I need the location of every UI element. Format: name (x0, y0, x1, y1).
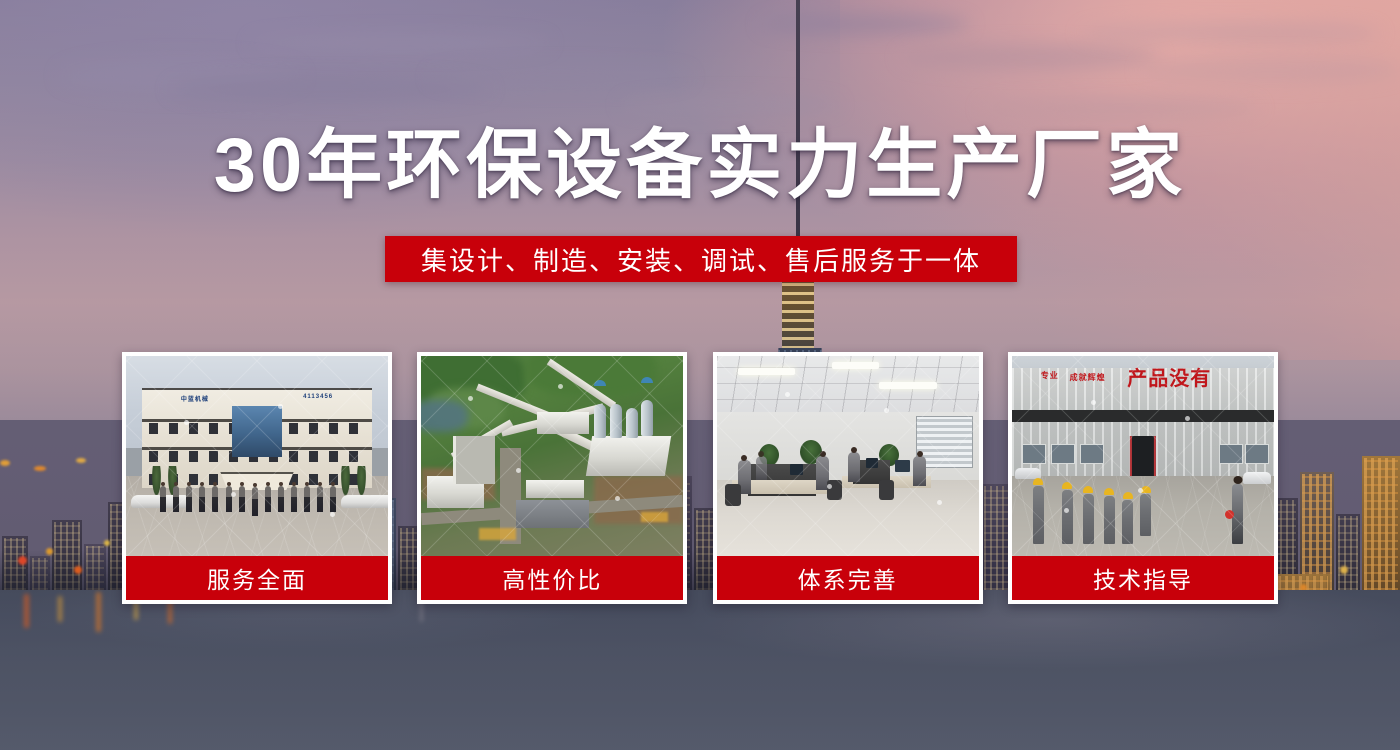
feature-card-caption: 高性价比 (421, 556, 683, 600)
feature-card-service[interactable]: 中蓝机械 4113456 (122, 352, 392, 604)
feature-card-caption: 技术指导 (1012, 556, 1274, 600)
aerial-industrial-plant-photo (421, 356, 683, 556)
workshop-yard-workers-photo: 产品没有 专业 成就辉煌 (1012, 356, 1274, 556)
feature-card-caption: 服务全面 (126, 556, 388, 600)
feature-card-guidance[interactable]: 产品没有 专业 成就辉煌 (1008, 352, 1278, 604)
feature-card-caption: 体系完善 (717, 556, 979, 600)
page-title: 30年环保设备实力生产厂家 (0, 128, 1400, 204)
subtitle-banner: 集设计、制造、安装、调试、售后服务于一体 (385, 236, 1017, 282)
company-office-building-staff-photo: 中蓝机械 4113456 (126, 356, 388, 556)
building-sign-phone: 4113456 (303, 394, 333, 400)
subtitle-text: 集设计、制造、安装、调试、售后服务于一体 (421, 241, 981, 278)
office-interior-staff-photo (717, 356, 979, 556)
feature-card-value[interactable]: 高性价比 (417, 352, 687, 604)
promo-banner: 30年环保设备实力生产厂家 集设计、制造、安装、调试、售后服务于一体 (0, 0, 1400, 750)
feature-card-system[interactable]: 体系完善 (713, 352, 983, 604)
feature-card-list: 中蓝机械 4113456 (122, 352, 1278, 604)
building-sign-name: 中蓝机械 (181, 394, 209, 403)
wall-slogan-main: 产品没有 (1127, 362, 1211, 391)
wall-slogan-sub: 成就辉煌 (1070, 372, 1106, 383)
wall-slogan-left: 专业 (1041, 370, 1059, 381)
